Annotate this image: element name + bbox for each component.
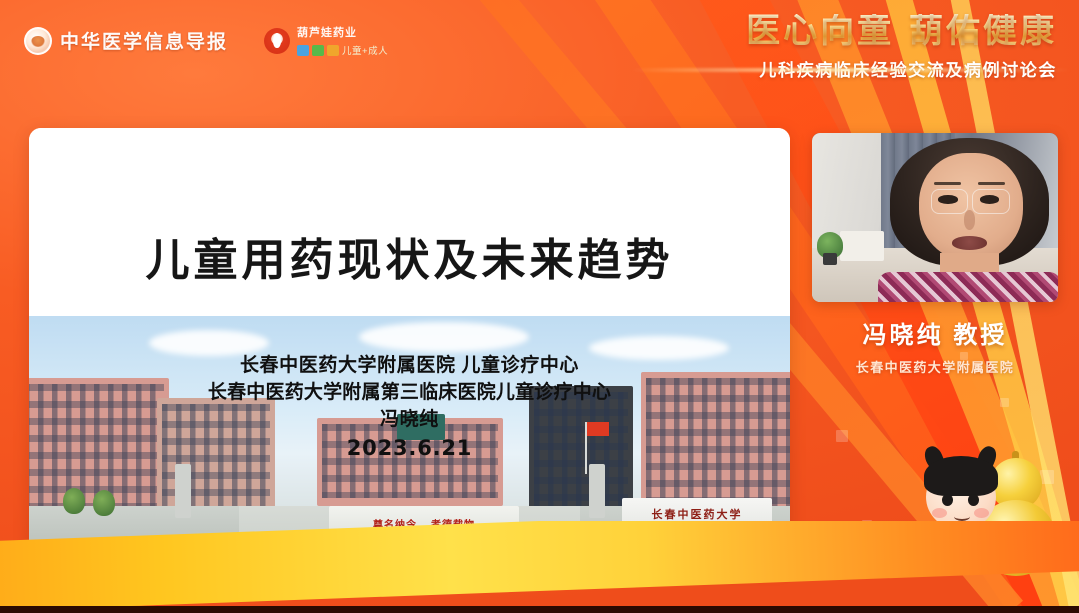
speaker-caption: 冯晓纯 教授 长春中医药大学附属医院 <box>812 315 1058 376</box>
seal-emblem-icon <box>24 27 52 55</box>
plant-pot-decor <box>823 253 837 265</box>
mascot-smile <box>954 512 970 521</box>
presentation-slide[interactable]: 儿童用药现状及未来趋势 尊名纳今 孝德载物 <box>29 128 790 566</box>
logo-china-medical-information-herald: 中华医学信息导报 <box>24 27 228 55</box>
gate-sign-name: 长春中医药大学 <box>652 506 743 522</box>
footer-line <box>0 606 1079 613</box>
mascot-hair <box>924 456 998 496</box>
eyebrow-left <box>934 182 961 185</box>
speaker-organization: 长春中医药大学附属医院 <box>812 357 1058 376</box>
logo-sponsor-tagline-row: 儿童+成人 <box>297 43 388 57</box>
eyebrow-right <box>978 182 1005 185</box>
title-glow-decor <box>631 68 1071 72</box>
slide-subtitle-line-1: 长春中医药大学附属医院 儿童诊疗中心 <box>29 353 790 380</box>
gourd-drop-icon <box>264 28 290 54</box>
bottom-ribbon <box>0 521 1079 613</box>
box-decor <box>840 231 884 261</box>
logo-sponsor-tagline: 儿童+成人 <box>342 43 388 57</box>
tree-decor <box>93 490 115 516</box>
mascot-cheek-left <box>932 508 947 518</box>
slide-presenter-name: 冯晓纯 <box>29 407 790 434</box>
logo-primary-text: 中华医学信息导报 <box>60 27 228 54</box>
mascot-eye-left <box>942 494 953 506</box>
chip-icon-blue <box>297 45 309 56</box>
event-title-block: 医心向童 葫佑健康 儿科疾病临床经验交流及病例讨论会 <box>637 14 1057 81</box>
slide-title: 儿童用药现状及未来趋势 <box>29 224 790 288</box>
tree-decor <box>63 488 85 514</box>
mouth-shape <box>952 236 987 249</box>
slide-subtitle-line-2: 长春中医药大学附属第三临床医院儿童诊疗中心 <box>29 380 790 407</box>
gate-pillar <box>589 464 605 518</box>
slide-date: 2023.6.21 <box>29 434 790 464</box>
gate-pillar <box>175 464 191 518</box>
eye-right <box>980 195 999 203</box>
nose-shape <box>964 210 976 230</box>
logo-sponsor: 葫芦娃药业 儿童+成人 <box>264 24 388 57</box>
cloud-decor <box>359 322 529 352</box>
logo-sponsor-name: 葫芦娃药业 <box>297 24 388 40</box>
spark-decor <box>836 430 848 442</box>
broadcast-stage: 中华医学信息导报 葫芦娃药业 儿童+成人 医心向童 葫佑健康 儿科疾病临床经验交… <box>0 0 1079 613</box>
chip-icon-orange <box>327 45 339 56</box>
clothing-shape <box>878 272 1058 302</box>
speaker-name: 冯晓纯 教授 <box>812 315 1058 350</box>
presenter-figure <box>896 138 1044 302</box>
event-main-title: 医心向童 葫佑健康 <box>637 14 1057 50</box>
speaker-video-feed[interactable] <box>812 133 1058 302</box>
chip-icon-green <box>312 45 324 56</box>
mascot-eye-right <box>968 494 979 506</box>
ribbon-band-front <box>0 521 1079 613</box>
slide-subtitle-block: 长春中医药大学附属医院 儿童诊疗中心 长春中医药大学附属第三临床医院儿童诊疗中心… <box>29 353 790 464</box>
eye-left <box>938 195 957 203</box>
mascot-cheek-right <box>974 508 989 518</box>
logo-sponsor-text-block: 葫芦娃药业 儿童+成人 <box>297 24 388 57</box>
header-logos: 中华医学信息导报 葫芦娃药业 儿童+成人 <box>24 24 388 57</box>
spark-decor <box>1000 398 1009 407</box>
